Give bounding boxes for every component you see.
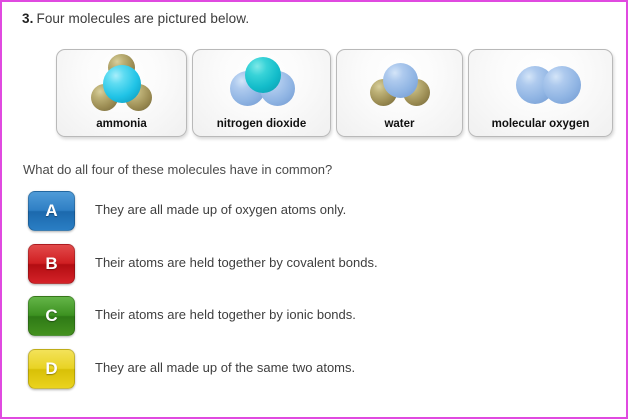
- water-diagram: [337, 51, 462, 117]
- worksheet-page: 3.Four molecules are pictured below. amm…: [0, 0, 628, 419]
- answer-option-a[interactable]: A They are all made up of oxygen atoms o…: [28, 191, 588, 244]
- molecule-card-water: water: [336, 49, 463, 137]
- molecule-label: ammonia: [96, 117, 147, 131]
- question-prompt: What do all four of these molecules have…: [23, 162, 332, 177]
- option-letter-badge-d[interactable]: D: [28, 349, 75, 389]
- molecule-card-strip: ammonia nitrogen dioxide water mole: [56, 49, 613, 137]
- molecule-label: molecular oxygen: [492, 117, 590, 131]
- molecular-oxygen-diagram: [469, 51, 612, 117]
- molecule-label: water: [384, 117, 414, 131]
- oxygen-atom-icon: [383, 63, 418, 98]
- option-letter-badge-b[interactable]: B: [28, 244, 75, 284]
- option-text-b[interactable]: Their atoms are held together by covalen…: [95, 255, 378, 270]
- answer-option-b[interactable]: B Their atoms are held together by coval…: [28, 244, 588, 297]
- answer-options-list: A They are all made up of oxygen atoms o…: [28, 191, 588, 401]
- nitrogen-atom-icon: [245, 57, 281, 93]
- nitrogen-atom-icon: [103, 65, 141, 103]
- molecule-label: nitrogen dioxide: [217, 117, 306, 131]
- option-text-a[interactable]: They are all made up of oxygen atoms onl…: [95, 202, 346, 217]
- question-number: 3.: [22, 11, 33, 26]
- molecule-card-nitrogen-dioxide: nitrogen dioxide: [192, 49, 331, 137]
- nitrogen-dioxide-diagram: [193, 51, 330, 117]
- molecule-card-molecular-oxygen: molecular oxygen: [468, 49, 613, 137]
- question-stem-text: Four molecules are pictured below.: [36, 11, 249, 26]
- molecule-card-ammonia: ammonia: [56, 49, 187, 137]
- question-stem: 3.Four molecules are pictured below.: [22, 11, 249, 26]
- option-letter-badge-c[interactable]: C: [28, 296, 75, 336]
- oxygen-atom-icon: [543, 66, 581, 104]
- answer-option-d[interactable]: D They are all made up of the same two a…: [28, 349, 588, 402]
- option-letter-badge-a[interactable]: A: [28, 191, 75, 231]
- ammonia-diagram: [57, 51, 186, 117]
- answer-option-c[interactable]: C Their atoms are held together by ionic…: [28, 296, 588, 349]
- option-text-d[interactable]: They are all made up of the same two ato…: [95, 360, 355, 375]
- option-text-c[interactable]: Their atoms are held together by ionic b…: [95, 307, 356, 322]
